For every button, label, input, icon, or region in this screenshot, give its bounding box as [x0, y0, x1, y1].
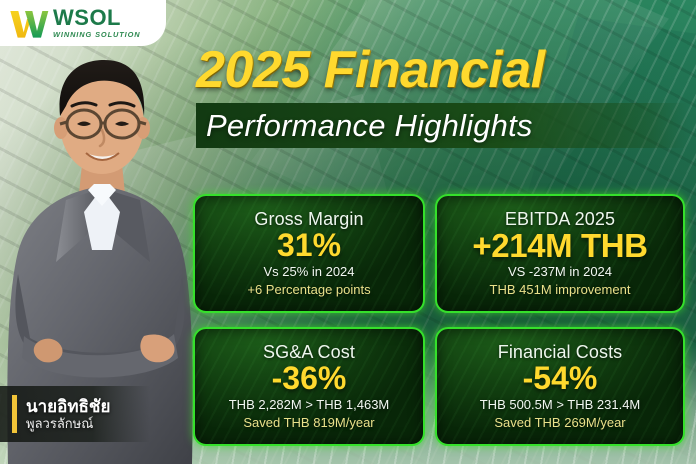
- card-value: 31%: [277, 229, 341, 262]
- card-comparison: VS -237M in 2024: [508, 264, 612, 279]
- card-note: THB 451M improvement: [490, 282, 631, 297]
- nameplate-accent-bar: [12, 395, 17, 433]
- card-note: +6 Percentage points: [247, 282, 370, 297]
- headline-band: Performance Highlights: [196, 103, 688, 148]
- metric-card-financial-costs: Financial Costs -54% THB 500.5M > THB 23…: [435, 327, 685, 446]
- card-comparison: THB 2,282M > THB 1,463M: [229, 397, 390, 412]
- wsol-w-mark-icon: [9, 8, 49, 38]
- card-comparison: Vs 25% in 2024: [263, 264, 354, 279]
- poster-stage: WSOL WINNING SOLUTION 2025 Financial Per…: [0, 0, 696, 464]
- person-nameplate: นายอิทธิชัย พูลวรลักษณ์: [0, 386, 150, 442]
- card-note: Saved THB 269M/year: [494, 415, 625, 430]
- person-name-line1: นายอิทธิชัย: [26, 397, 110, 416]
- brand-tagline: WINNING SOLUTION: [53, 31, 140, 38]
- metric-card-ebitda: EBITDA 2025 +214M THB VS -237M in 2024 T…: [435, 194, 685, 313]
- headline-sub: Performance Highlights: [206, 108, 533, 144]
- brand-name: WSOL: [53, 7, 140, 29]
- card-value: +214M THB: [472, 229, 647, 263]
- card-value: -54%: [523, 362, 598, 395]
- card-note: Saved THB 819M/year: [243, 415, 374, 430]
- headline-block: 2025 Financial Performance Highlights: [196, 44, 688, 148]
- brand-logo: WSOL WINNING SOLUTION: [0, 0, 166, 46]
- metric-card-sga-cost: SG&A Cost -36% THB 2,282M > THB 1,463M S…: [193, 327, 425, 446]
- metric-card-gross-margin: Gross Margin 31% Vs 25% in 2024 +6 Perce…: [193, 194, 425, 313]
- card-comparison: THB 500.5M > THB 231.4M: [480, 397, 641, 412]
- card-value: -36%: [272, 362, 347, 395]
- person-name-line2: พูลวรลักษณ์: [26, 417, 110, 432]
- headline-main: 2025 Financial: [196, 44, 688, 96]
- metric-card-grid: Gross Margin 31% Vs 25% in 2024 +6 Perce…: [193, 194, 685, 446]
